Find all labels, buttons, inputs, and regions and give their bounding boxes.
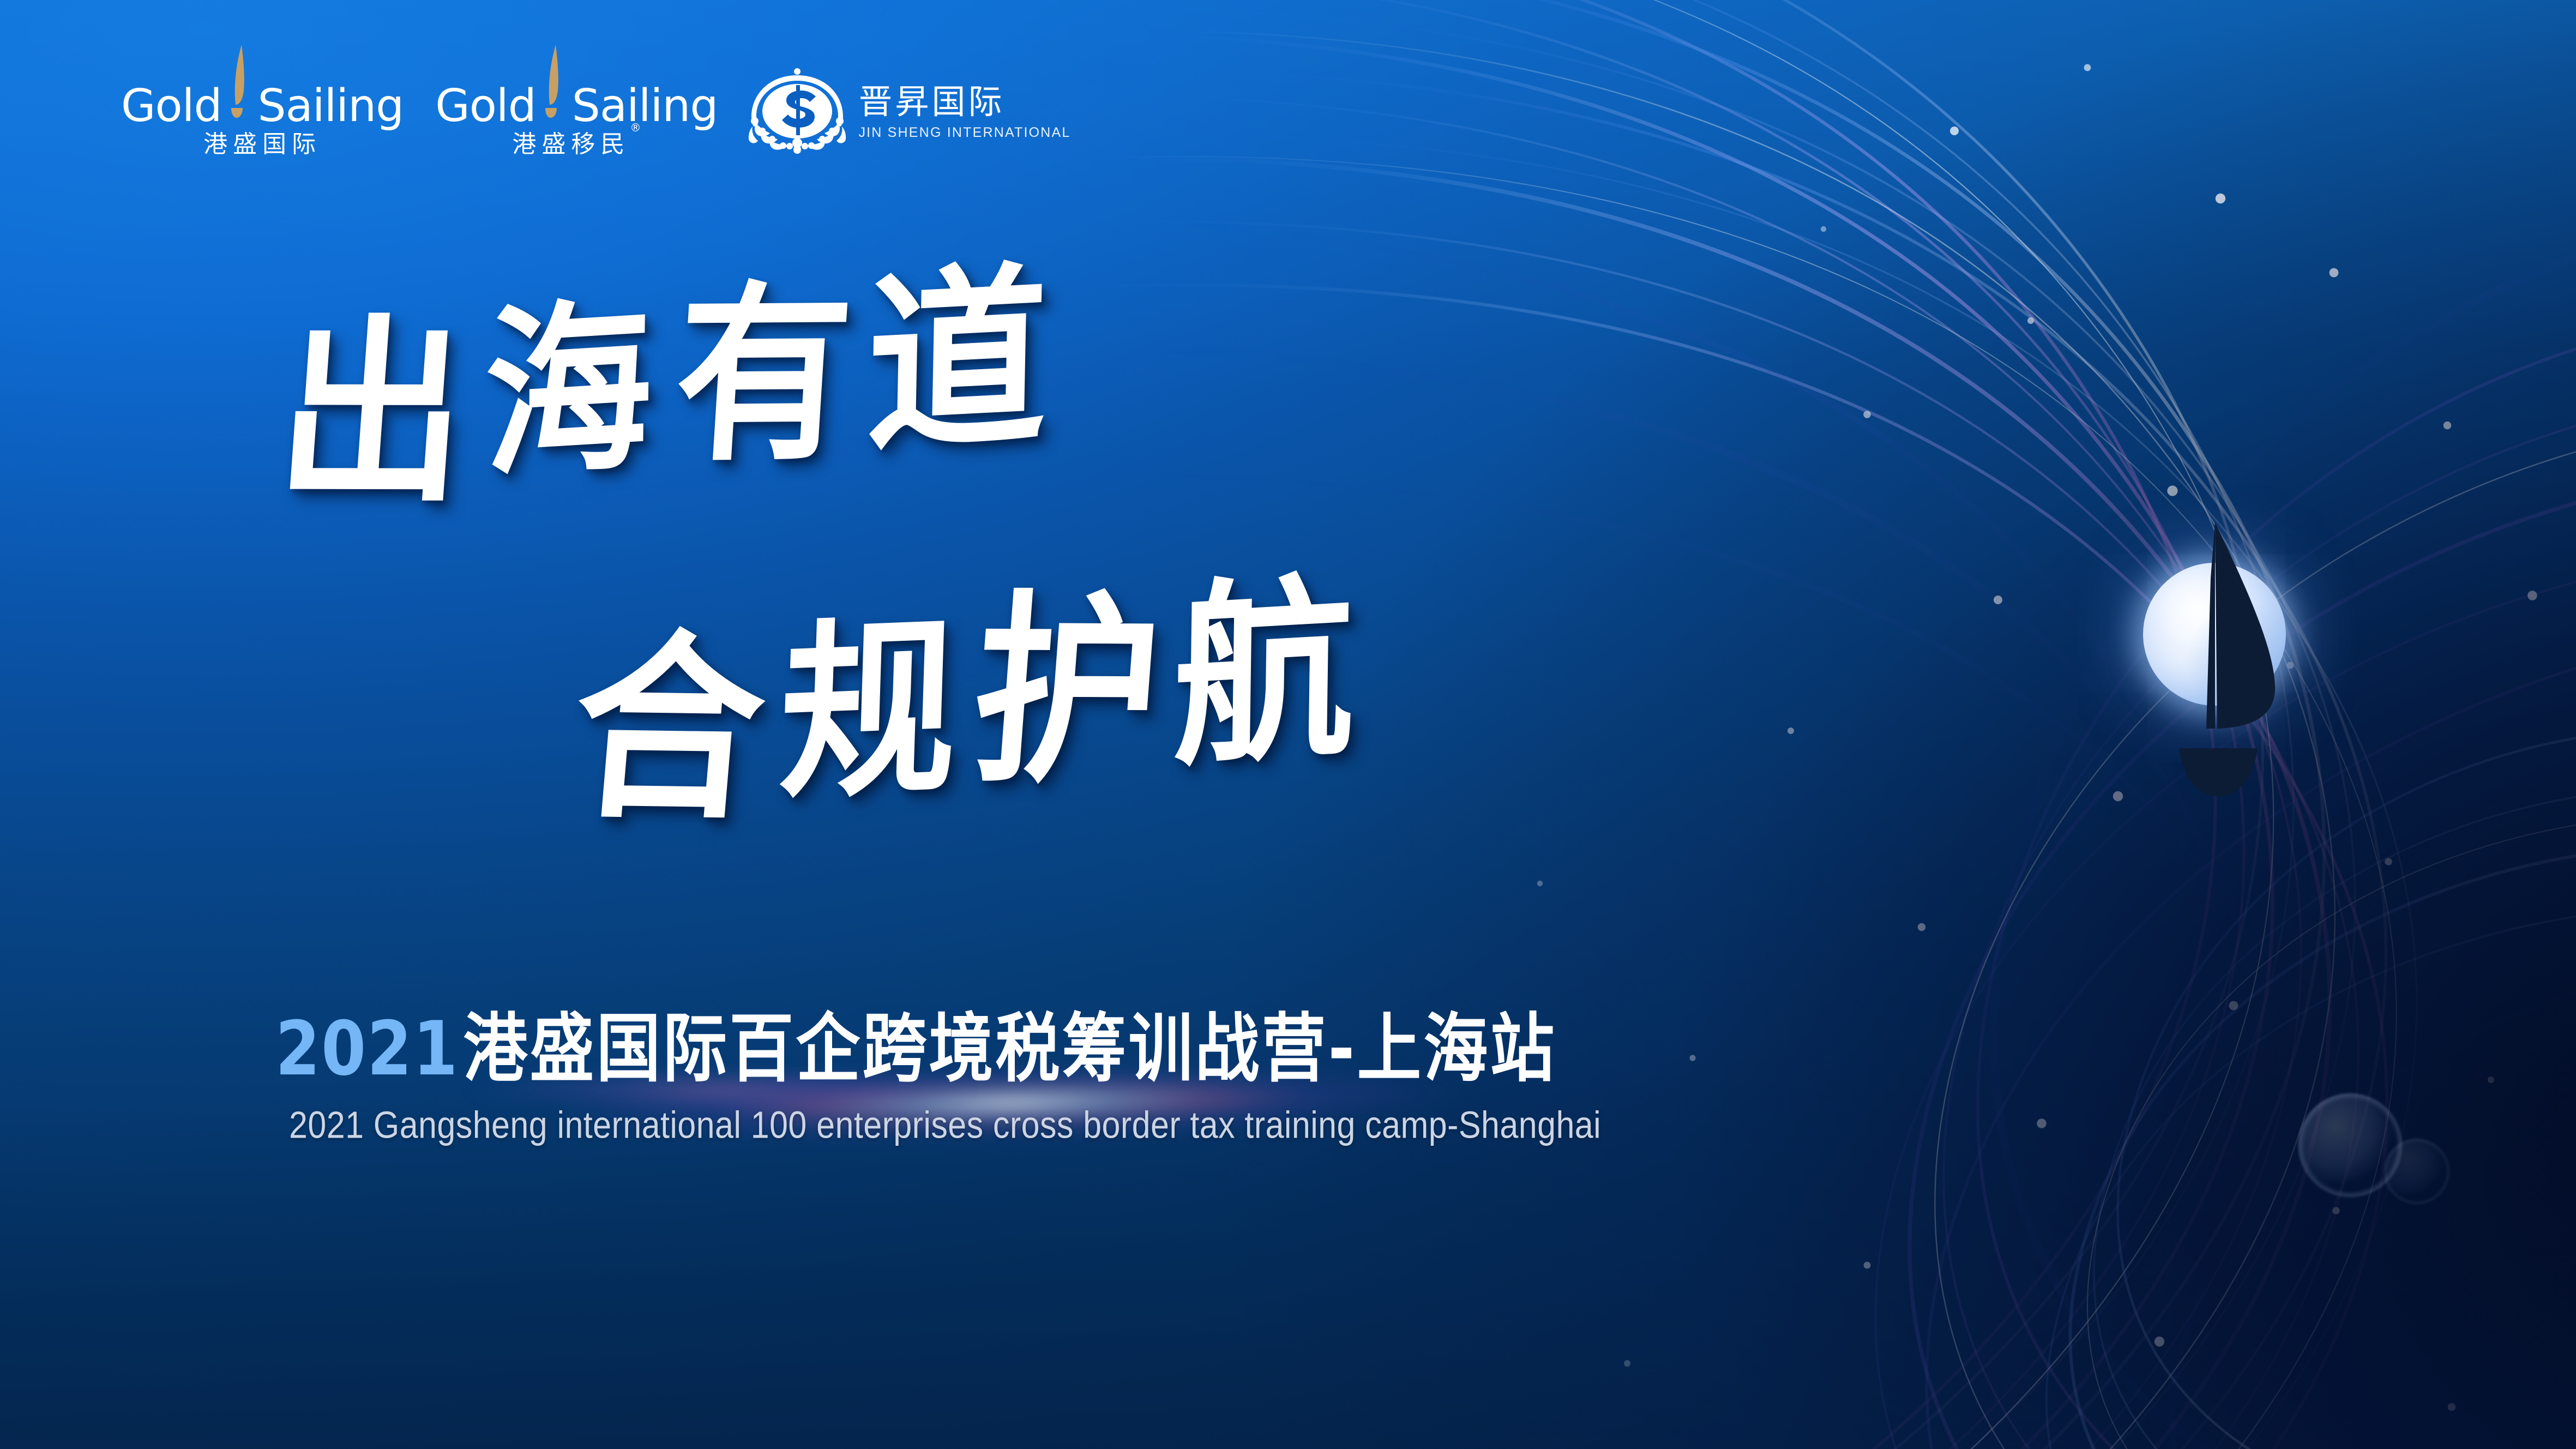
subtitle-year: 2021 xyxy=(275,1005,459,1092)
headline-char: 航 xyxy=(1172,571,1367,776)
headline-char: 规 xyxy=(777,612,971,810)
logo-jin-sheng-international[interactable]: 晋昇国际 JIN SHENG INTERNATIONAL xyxy=(748,64,1070,158)
gold-sailing-wordmark: Gold Sailing xyxy=(121,64,404,121)
subtitle-english: 2021 Gangsheng international 100 enterpr… xyxy=(289,1104,1601,1147)
bokeh-bubble-small xyxy=(2384,1139,2449,1204)
headline-char: 出 xyxy=(272,313,487,512)
headline-char: 有 xyxy=(670,279,870,471)
jin-sheng-english: JIN SHENG INTERNATIONAL xyxy=(858,125,1070,141)
logo-gold-sailing-immigration[interactable]: Gold Sailing 港盛移民® xyxy=(435,64,718,159)
registered-mark: ® xyxy=(630,121,641,134)
headline-char: 道 xyxy=(865,258,1063,462)
subtitle-chinese: 2021港盛国际百企跨境税筹训战营-上海站 xyxy=(275,1007,1556,1090)
jin-sheng-text: 晋昇国际 JIN SHENG INTERNATIONAL xyxy=(858,84,1070,141)
gold-sailing-wordmark-2: Gold Sailing xyxy=(435,64,718,121)
headline-char: 护 xyxy=(966,589,1179,794)
sail-icon-2 xyxy=(539,64,569,121)
logo-gold-sailing-international[interactable]: Gold Sailing 港盛国际 xyxy=(121,64,404,159)
event-banner: Gold Sailing 港盛国际 Gold xyxy=(0,0,2576,1449)
headline-char: 合 xyxy=(566,628,784,831)
jin-sheng-chinese: 晋昇国际 xyxy=(858,84,1070,120)
headline-char: 海 xyxy=(483,293,666,488)
subtitle-chinese-text: 港盛国际百企跨境税筹训战营-上海站 xyxy=(463,1005,1556,1092)
logo-bar: Gold Sailing 港盛国际 Gold xyxy=(121,64,1071,159)
sail-icon xyxy=(225,64,255,121)
headline-line-1: 出海有道 xyxy=(279,300,1064,500)
logo-chinese-name-2: 港盛移民® xyxy=(512,124,641,159)
headline-line-2: 合规护航 xyxy=(573,607,1373,809)
sailboat-graphic xyxy=(2078,513,2361,818)
logo-chinese-name: 港盛国际 xyxy=(203,124,321,159)
sailboat-silhouette xyxy=(2078,513,2361,818)
logo-chinese-text-2: 港盛移民 xyxy=(512,130,630,158)
jin-sheng-emblem-icon xyxy=(748,67,846,158)
